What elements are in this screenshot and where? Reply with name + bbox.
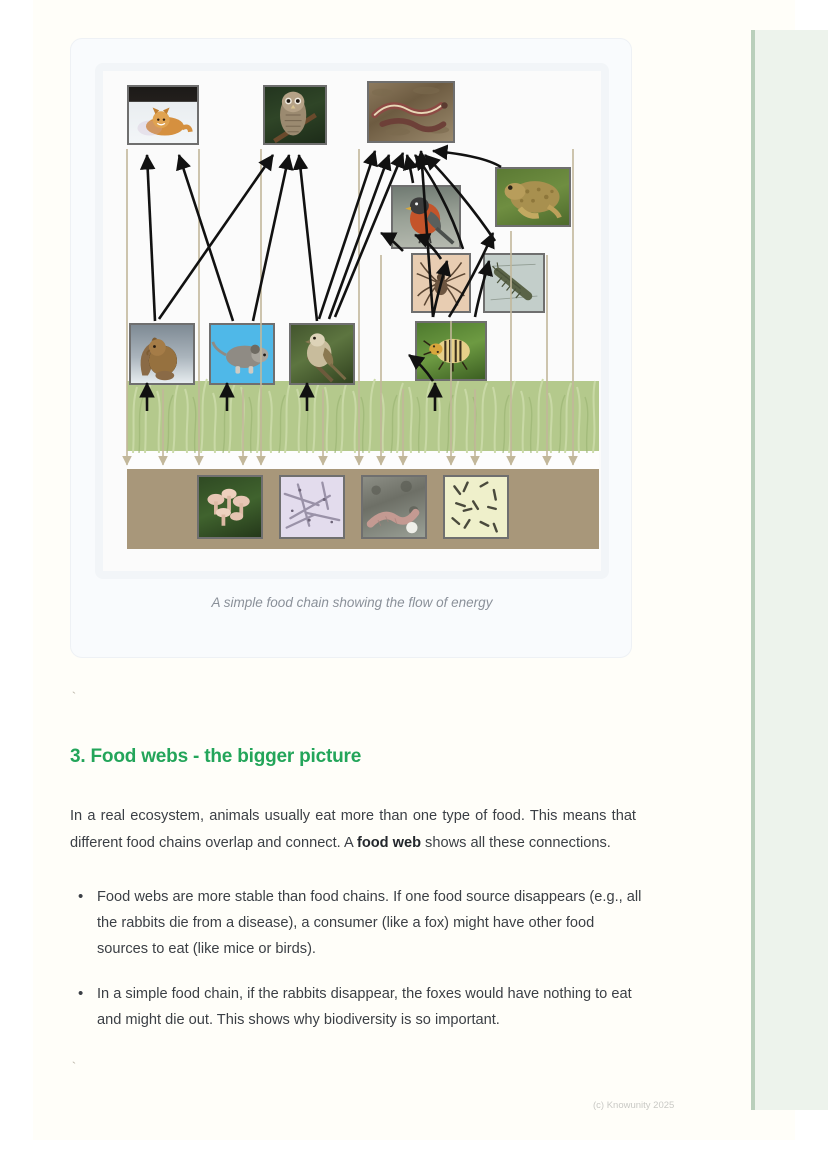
section-paragraph: In a real ecosystem, animals usually eat… (70, 803, 636, 857)
tick-mark-top: ` (70, 690, 78, 705)
energy-flow-arrows (103, 71, 601, 571)
figure-caption: A simple food chain showing the flow of … (71, 595, 633, 610)
figure-card: A simple food chain showing the flow of … (70, 38, 632, 658)
right-margin-rail (751, 30, 828, 1110)
paragraph-bold-term: food web (357, 835, 421, 851)
page-section-heading: 3. Food webs - the bigger picture (70, 746, 361, 768)
right-margin-rail-edge (751, 30, 755, 1110)
page-content: A simple food chain showing the flow of … (33, 0, 751, 1140)
list-item: In a simple food chain, if the rabbits d… (70, 981, 642, 1033)
tick-mark-bottom: ` (70, 1060, 78, 1075)
document-page: A simple food chain showing the flow of … (33, 0, 795, 1140)
list-item: Food webs are more stable than food chai… (70, 884, 642, 962)
paragraph-part2: shows all these connections. (421, 835, 611, 851)
figure-inner-panel (95, 63, 609, 579)
section-bullet-list: Food webs are more stable than food chai… (70, 884, 642, 1052)
footer-copyright: (c) Knowunity 2025 (593, 1100, 753, 1111)
food-web-diagram (103, 71, 601, 571)
